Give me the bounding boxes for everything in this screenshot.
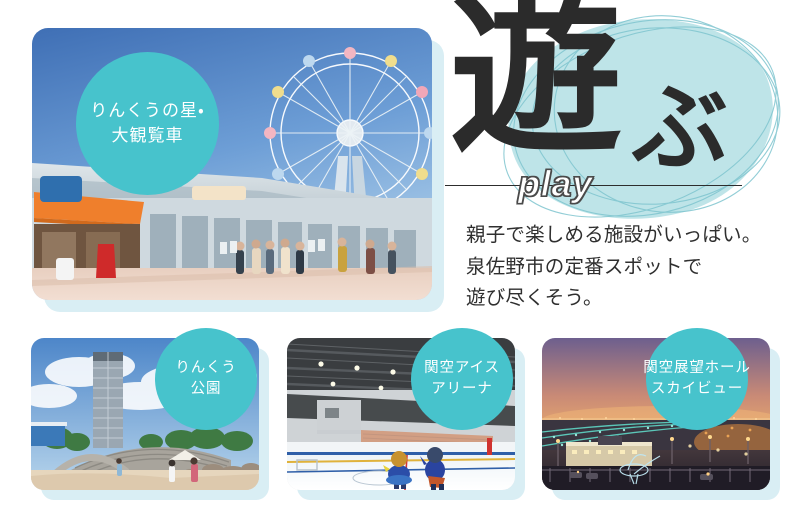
play-section-banner: りんくうの星・ 大観覧車 遊 ぶ play 親子で楽しめる施設がいっぱい。 泉佐…: [0, 0, 800, 515]
lead-line-3: 遊び尽くそう。: [466, 283, 796, 315]
thumbnail-rinku-park[interactable]: りんくう 公園: [31, 338, 259, 490]
thumbnail-badge-rinku-park[interactable]: りんくう 公園: [155, 328, 257, 430]
badge-line-1: りんくう: [175, 358, 236, 379]
thumbnail-badge-kanku-sky-view[interactable]: 関空展望ホール スカイビュー: [646, 328, 748, 430]
badge-line-1: 関空展望ホール: [643, 358, 751, 379]
title-kanji: 遊: [450, 0, 622, 162]
hero-badge[interactable]: りんくうの星・ 大観覧車: [76, 52, 219, 195]
thumbnail-kanku-sky-view[interactable]: 関空展望ホール スカイビュー: [542, 338, 770, 490]
lead-line-2: 泉佐野市の定番スポットで: [466, 252, 796, 284]
title-rule: [445, 185, 742, 186]
lead-line-1: 親子で楽しめる施設がいっぱい。: [466, 220, 796, 252]
badge-line-1: 関空アイス: [424, 358, 500, 379]
badge-line-2: スカイビュー: [651, 379, 743, 400]
title-kana: ぶ: [632, 80, 728, 176]
hero-badge-line-2: 大観覧車: [111, 124, 183, 149]
title-block: 遊 ぶ play: [440, 8, 790, 208]
lead-paragraph: 親子で楽しめる施設がいっぱい。 泉佐野市の定番スポットで 遊び尽くそう。: [466, 220, 796, 315]
thumbnail-badge-kanku-ice-arena[interactable]: 関空アイス アリーナ: [411, 328, 513, 430]
badge-line-2: アリーナ: [431, 379, 492, 400]
thumbnail-kanku-ice-arena[interactable]: 関空アイス アリーナ: [287, 338, 515, 490]
hero-photo[interactable]: りんくうの星・ 大観覧車: [32, 28, 432, 300]
hero-badge-line-1: りんくうの星・: [90, 99, 205, 124]
badge-line-2: 公園: [191, 379, 222, 400]
title-romaji: play: [518, 163, 593, 205]
